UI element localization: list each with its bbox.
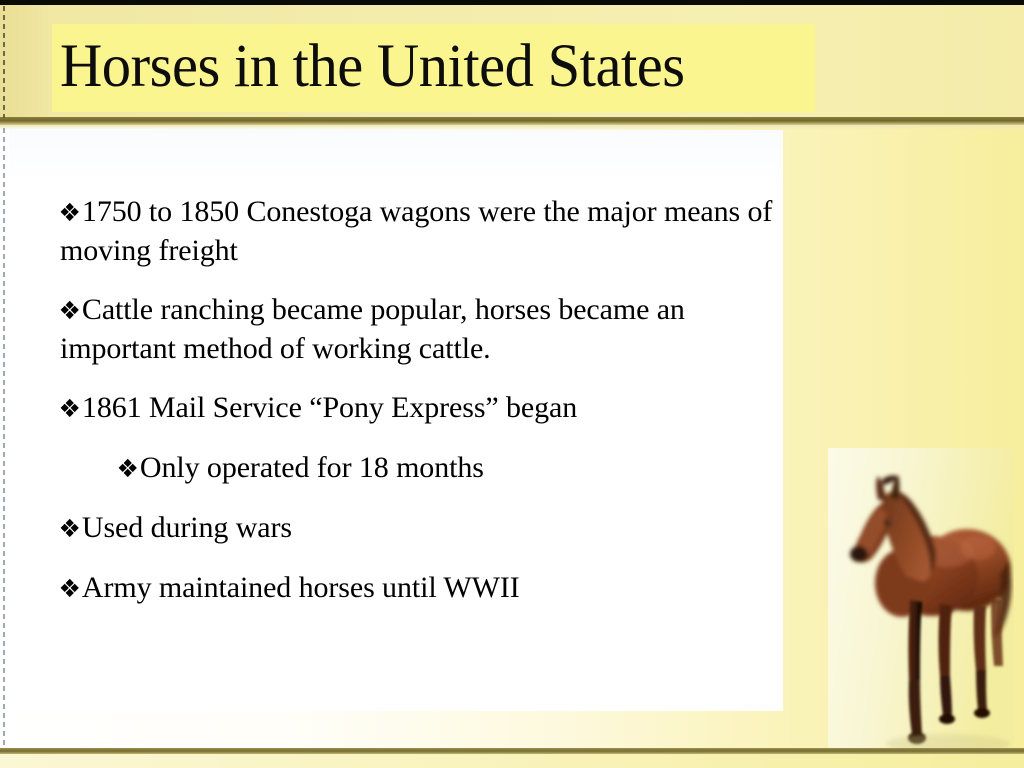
list-item-text: Army maintained horses until WWII: [82, 571, 520, 604]
diamond-bullet-icon: ❖: [117, 454, 140, 483]
list-item-text: 1861 Mail Service “Pony Express” began: [82, 391, 577, 424]
diamond-bullet-icon: ❖: [59, 394, 82, 423]
title-band-left-shade: [0, 5, 48, 117]
list-item: ❖Cattle ranching became popular, horses …: [60, 291, 740, 368]
list-item-text: Used during wars: [82, 511, 292, 544]
list-item: ❖Used during wars: [60, 509, 780, 548]
diamond-bullet-icon: ❖: [59, 198, 82, 227]
slide-canvas: Horses in the United States ❖1750 to 185…: [0, 0, 1024, 768]
title-divider-rule: [0, 117, 1024, 125]
bullet-list: ❖1750 to 1850 Conestoga wagons were the …: [60, 193, 780, 629]
horse-illustration: [828, 448, 1014, 764]
diamond-bullet-icon: ❖: [59, 514, 82, 543]
diamond-bullet-icon: ❖: [59, 296, 82, 325]
horse-photo: [828, 448, 1014, 764]
left-edge-dashed-rule: [3, 128, 5, 756]
diamond-bullet-icon: ❖: [59, 574, 82, 603]
slide-title: Horses in the United States: [60, 28, 790, 106]
left-edge-dashed-rule-top: [3, 6, 5, 118]
list-item: ❖1861 Mail Service “Pony Express” began: [60, 389, 780, 428]
list-item-text: Cattle ranching became popular, horses b…: [60, 293, 685, 365]
bottom-band: [0, 754, 1024, 768]
list-item: ❖Army maintained horses until WWII: [60, 569, 780, 608]
sub-list-item: ❖Only operated for 18 months: [118, 449, 780, 488]
list-item: ❖1750 to 1850 Conestoga wagons were the …: [60, 193, 775, 270]
list-item-text: 1750 to 1850 Conestoga wagons were the m…: [60, 195, 772, 267]
sub-list-item-text: Only operated for 18 months: [140, 451, 484, 484]
